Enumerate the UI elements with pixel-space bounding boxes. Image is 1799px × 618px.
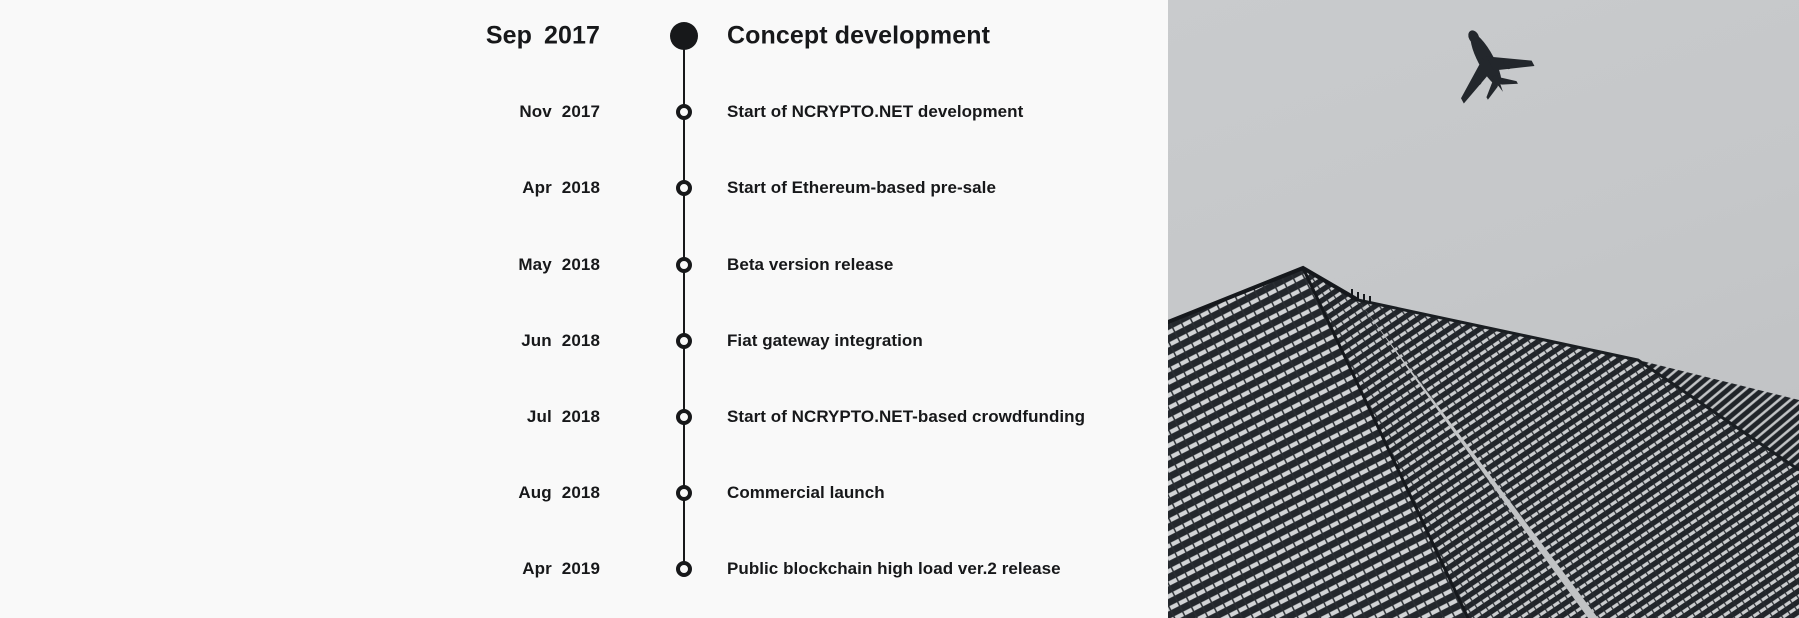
entry-month: Nov — [512, 102, 552, 122]
milestone-ring-marker[interactable] — [676, 333, 692, 349]
entry-date: Apr2018 — [512, 178, 600, 198]
photo-panel — [1168, 0, 1799, 618]
entry-month: Jun — [512, 331, 552, 351]
entry-year: 2018 — [562, 178, 600, 198]
timeline-infographic: Sep2017Concept developmentNov2017Start o… — [0, 0, 1799, 618]
entry-label: Start of NCRYPTO.NET development — [727, 102, 1023, 122]
milestone-ring-marker[interactable] — [676, 257, 692, 273]
milestone-dot-marker[interactable] — [670, 22, 698, 50]
milestone-ring-marker[interactable] — [676, 485, 692, 501]
entry-year: 2018 — [562, 255, 600, 275]
entry-date: Nov2017 — [512, 102, 600, 122]
entry-label: Concept development — [727, 22, 990, 51]
entry-year: 2018 — [562, 483, 600, 503]
entry-label: Start of NCRYPTO.NET-based crowdfunding — [727, 407, 1085, 427]
entry-label: Start of Ethereum-based pre-sale — [727, 178, 996, 198]
entry-month: Sep — [476, 22, 532, 51]
entry-month: Aug — [512, 483, 552, 503]
entry-label: Commercial launch — [727, 483, 885, 503]
entry-year: 2018 — [562, 331, 600, 351]
entry-date: Jun2018 — [512, 331, 600, 351]
entry-year: 2017 — [562, 102, 600, 122]
entry-label: Fiat gateway integration — [727, 331, 923, 351]
entry-label: Beta version release — [727, 255, 893, 275]
milestone-ring-marker[interactable] — [676, 104, 692, 120]
entry-date: Sep2017 — [476, 22, 600, 51]
milestone-ring-marker[interactable] — [676, 180, 692, 196]
entry-date: Apr2019 — [512, 559, 600, 579]
milestone-ring-marker[interactable] — [676, 409, 692, 425]
entry-month: Apr — [512, 559, 552, 579]
timeline-panel: Sep2017Concept developmentNov2017Start o… — [0, 0, 1168, 618]
milestone-ring-marker[interactable] — [676, 561, 692, 577]
entry-date: May2018 — [512, 255, 600, 275]
entry-date: Jul2018 — [512, 407, 600, 427]
skyscraper-photo — [1168, 0, 1799, 618]
entry-year: 2017 — [544, 22, 600, 51]
entry-month: Apr — [512, 178, 552, 198]
entry-date: Aug2018 — [512, 483, 600, 503]
entry-year: 2019 — [562, 559, 600, 579]
entry-month: Jul — [512, 407, 552, 427]
entry-label: Public blockchain high load ver.2 releas… — [727, 559, 1061, 579]
entry-month: May — [512, 255, 552, 275]
entry-year: 2018 — [562, 407, 600, 427]
